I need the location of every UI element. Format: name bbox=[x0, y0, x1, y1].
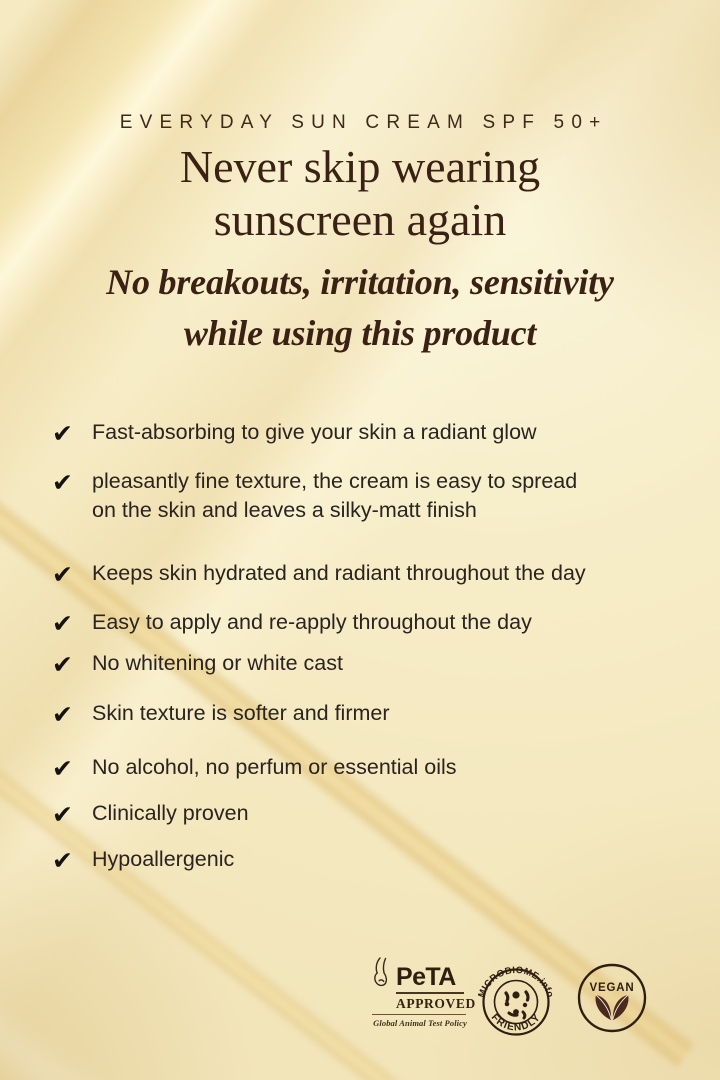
sunscreen-benefits-poster: EVERYDAY SUN CREAM SPF 50+ Never skip we… bbox=[0, 0, 720, 1080]
microbiome-friendly-badge: MICROBIOME.info FRIENDLY bbox=[474, 960, 558, 1044]
check-icon: ✔ bbox=[52, 699, 92, 729]
check-icon: ✔ bbox=[52, 467, 92, 497]
check-icon: ✔ bbox=[52, 649, 92, 679]
subtitle-line-2: while using this product bbox=[0, 308, 720, 359]
subtitle-line-1: No breakouts, irritation, sensitivity bbox=[0, 257, 720, 308]
microbiome-badge-icon: MICROBIOME.info FRIENDLY bbox=[474, 960, 558, 1044]
check-icon: ✔ bbox=[52, 608, 92, 638]
peta-approved-badge: PeTA APPROVED Global Animal Test Policy bbox=[372, 958, 468, 1032]
list-item: ✔ Hypoallergenic bbox=[52, 845, 234, 875]
check-icon: ✔ bbox=[52, 418, 92, 448]
check-icon: ✔ bbox=[52, 845, 92, 875]
peta-divider-top bbox=[396, 992, 464, 994]
list-item-label: No alcohol, no perfum or essential oils bbox=[92, 753, 457, 782]
list-item-label: Skin texture is softer and firmer bbox=[92, 699, 390, 728]
page-title: Never skip wearing sunscreen again bbox=[0, 140, 720, 246]
peta-badge-top: PeTA bbox=[372, 958, 468, 990]
list-item: ✔ No alcohol, no perfum or essential oil… bbox=[52, 753, 457, 783]
vegan-label: VEGAN bbox=[590, 982, 635, 994]
peta-policy-label: Global Animal Test Policy bbox=[372, 1018, 468, 1028]
vegan-badge-icon: VEGAN bbox=[576, 962, 648, 1034]
list-item-label: pleasantly fine texture, the cream is ea… bbox=[92, 467, 577, 525]
page-subtitle: No breakouts, irritation, sensitivity wh… bbox=[0, 257, 720, 359]
check-icon: ✔ bbox=[52, 799, 92, 829]
peta-brand-label: PeTA bbox=[396, 964, 456, 990]
list-item-label: Hypoallergenic bbox=[92, 845, 234, 874]
certification-badges: PeTA APPROVED Global Animal Test Policy bbox=[0, 958, 720, 1048]
headline-line-1: Never skip wearing bbox=[0, 140, 720, 193]
list-item-label: Easy to apply and re-apply throughout th… bbox=[92, 608, 532, 637]
peta-divider-bottom bbox=[372, 1014, 466, 1015]
list-item: ✔ Easy to apply and re-apply throughout … bbox=[52, 608, 532, 638]
list-item: ✔ No whitening or white cast bbox=[52, 649, 343, 679]
vegan-badge: VEGAN bbox=[576, 962, 648, 1034]
list-item-label: Clinically proven bbox=[92, 799, 249, 828]
list-item: ✔ Clinically proven bbox=[52, 799, 249, 829]
poster-content: EVERYDAY SUN CREAM SPF 50+ Never skip we… bbox=[0, 0, 720, 1080]
headline-line-2: sunscreen again bbox=[0, 193, 720, 246]
list-item: ✔ Fast-absorbing to give your skin a rad… bbox=[52, 418, 537, 448]
check-icon: ✔ bbox=[52, 753, 92, 783]
bunny-icon bbox=[372, 956, 394, 990]
list-item: ✔ Skin texture is softer and firmer bbox=[52, 699, 390, 729]
list-item-label: No whitening or white cast bbox=[92, 649, 343, 678]
list-item: ✔ pleasantly fine texture, the cream is … bbox=[52, 467, 577, 525]
list-item-label: Fast-absorbing to give your skin a radia… bbox=[92, 418, 537, 447]
peta-status-label: APPROVED bbox=[396, 996, 468, 1012]
list-item: ✔ Keeps skin hydrated and radiant throug… bbox=[52, 559, 586, 589]
check-icon: ✔ bbox=[52, 559, 92, 589]
list-item-label: Keeps skin hydrated and radiant througho… bbox=[92, 559, 586, 588]
product-eyebrow-label: EVERYDAY SUN CREAM SPF 50+ bbox=[0, 112, 720, 134]
